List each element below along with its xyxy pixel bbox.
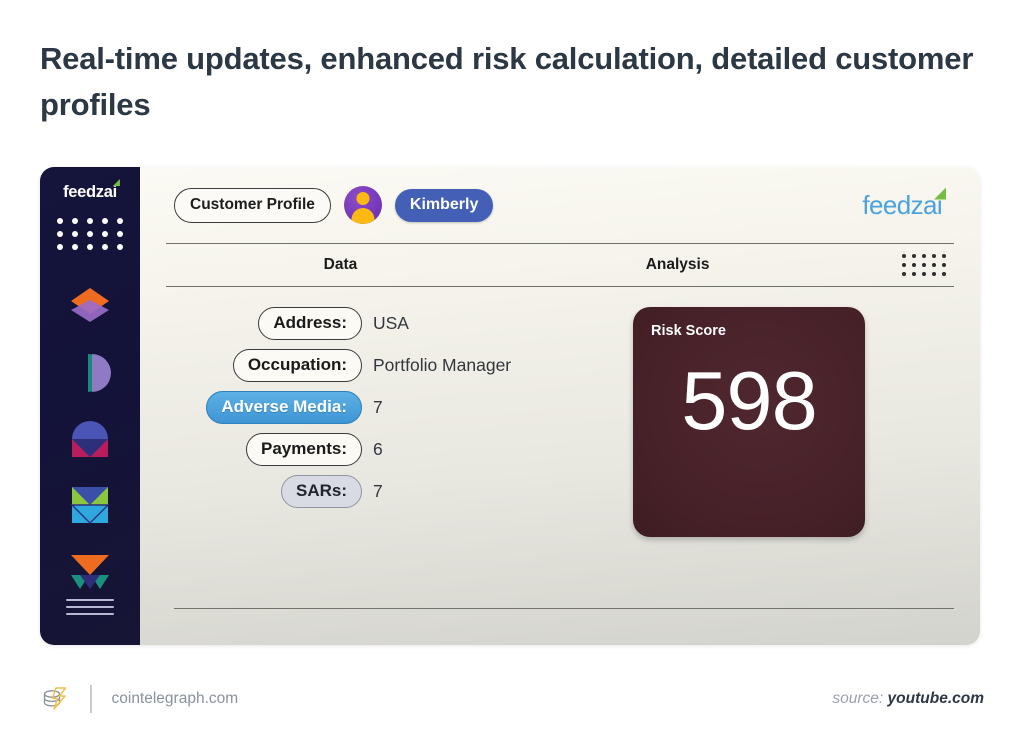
hamburger-menu-icon[interactable]: [66, 599, 114, 615]
row-value-occupation: Portfolio Manager: [373, 355, 511, 376]
brand-logo: feedzai: [862, 190, 942, 221]
column-header-analysis: Analysis: [513, 256, 842, 274]
table-row: Address: USA: [176, 307, 570, 340]
row-label-adverse-media[interactable]: Adverse Media:: [206, 391, 362, 424]
sidebar-nav: [67, 284, 113, 594]
sidebar-item-dome-triangle-icon[interactable]: [67, 416, 113, 462]
row-value-address: USA: [373, 313, 409, 334]
dot-grid-icon[interactable]: [902, 254, 946, 276]
table-bottom-divider: [174, 608, 954, 609]
brand-logo-text: feedzai: [862, 190, 942, 220]
row-value-payments: 6: [373, 439, 383, 460]
row-label-sars[interactable]: SARs:: [281, 475, 362, 508]
row-label-payments[interactable]: Payments:: [246, 433, 362, 466]
topbar: Customer Profile Kimberly feedzai: [166, 167, 954, 243]
row-value-sars: 7: [373, 481, 383, 502]
user-pill-kimberly[interactable]: Kimberly: [395, 189, 493, 222]
table-row: Payments: 6: [176, 433, 570, 466]
app-screenshot-panel: feedzai: [40, 167, 980, 645]
footer-site-name: cointelegraph.com: [112, 690, 239, 708]
footer-divider: [90, 685, 92, 713]
row-label-address[interactable]: Address:: [258, 307, 362, 340]
sidebar-item-square-triangles-icon[interactable]: [67, 482, 113, 528]
sidebar-item-half-circles-icon[interactable]: [67, 350, 113, 396]
user-avatar-icon[interactable]: [344, 186, 382, 224]
sidebar-dot-grid-icon: [57, 218, 123, 250]
cointelegraph-coin-bolt-icon: [40, 684, 70, 714]
table-grid-icon-wrap: [842, 254, 952, 276]
sidebar-logo: feedzai: [63, 183, 117, 202]
source-name: youtube.com: [888, 690, 984, 707]
sidebar-logo-text: feedzai: [63, 183, 117, 201]
footer: cointelegraph.com source: youtube.com: [40, 676, 984, 722]
sidebar-item-diamonds-icon[interactable]: [67, 284, 113, 330]
data-rows: Address: USA Occupation: Portfolio Manag…: [166, 307, 570, 537]
risk-score-label: Risk Score: [651, 323, 847, 339]
table-row: SARs: 7: [176, 475, 570, 508]
table-row: Adverse Media: 7: [176, 391, 570, 424]
source-attribution: source: youtube.com: [832, 690, 984, 708]
row-value-adverse-media: 7: [373, 397, 383, 418]
row-label-occupation[interactable]: Occupation:: [233, 349, 362, 382]
sidebar: feedzai: [40, 167, 140, 645]
source-prefix: source:: [832, 690, 887, 707]
risk-score-value: 598: [633, 359, 865, 442]
section-label-customer-profile[interactable]: Customer Profile: [174, 188, 331, 223]
table-header: Data Analysis: [166, 243, 954, 287]
page-title: Real-time updates, enhanced risk calcula…: [40, 36, 980, 127]
table-body: Address: USA Occupation: Portfolio Manag…: [166, 287, 954, 537]
risk-score-card[interactable]: Risk Score 598: [633, 307, 865, 537]
table-row: Occupation: Portfolio Manager: [176, 349, 570, 382]
analysis-column: Risk Score 598: [570, 307, 954, 537]
main-content: Customer Profile Kimberly feedzai Data A…: [140, 167, 980, 645]
column-header-data: Data: [168, 256, 513, 274]
sidebar-item-triangles-icon[interactable]: [67, 548, 113, 594]
